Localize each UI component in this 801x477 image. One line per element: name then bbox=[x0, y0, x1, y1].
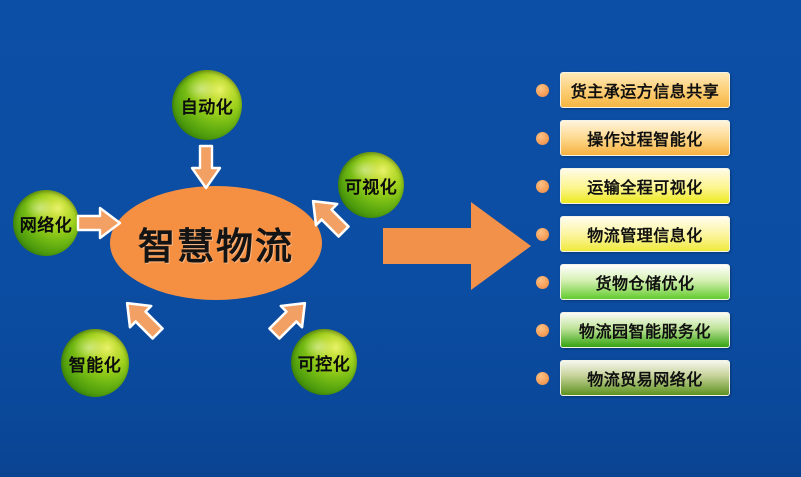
driver-sphere-networking[interactable]: 网络化 bbox=[13, 190, 79, 256]
slide-canvas: 智慧物流 自动化 可视化 网络化 智能化 可控化 bbox=[0, 0, 801, 477]
arrow-down-icon bbox=[186, 144, 226, 192]
list-item[interactable]: 货主承运方信息共享 bbox=[536, 66, 786, 114]
outcome-label: 物流贸易网络化 bbox=[587, 366, 703, 390]
list-item[interactable]: 物流贸易网络化 bbox=[536, 354, 786, 402]
bullet-icon bbox=[536, 324, 549, 337]
driver-label-automation: 自动化 bbox=[181, 93, 234, 118]
bullet-icon bbox=[536, 276, 549, 289]
driver-sphere-automation[interactable]: 自动化 bbox=[172, 70, 242, 140]
bullet-icon bbox=[536, 228, 549, 241]
list-item[interactable]: 货物仓储优化 bbox=[536, 258, 786, 306]
background-bottom-band bbox=[0, 431, 801, 477]
outcome-label: 货物仓储优化 bbox=[595, 270, 694, 294]
driver-label-networking: 网络化 bbox=[20, 211, 73, 236]
bullet-icon bbox=[536, 84, 549, 97]
outcome-label: 运输全程可视化 bbox=[587, 174, 703, 198]
outcome-label: 物流园智能服务化 bbox=[579, 318, 711, 342]
core-concept-label: 智慧物流 bbox=[138, 216, 294, 270]
outcome-label: 货主承运方信息共享 bbox=[571, 78, 720, 102]
list-item[interactable]: 操作过程智能化 bbox=[536, 114, 786, 162]
outcome-box[interactable]: 运输全程可视化 bbox=[560, 168, 730, 204]
outcome-label: 操作过程智能化 bbox=[587, 126, 703, 150]
outcome-box[interactable]: 物流园智能服务化 bbox=[560, 312, 730, 348]
arrow-up-right-icon bbox=[118, 294, 166, 342]
list-item[interactable]: 物流园智能服务化 bbox=[536, 306, 786, 354]
outcome-list: 货主承运方信息共享 操作过程智能化 运输全程可视化 物流管理信息化 货物仓储优化 bbox=[536, 66, 786, 402]
outcome-box[interactable]: 操作过程智能化 bbox=[560, 120, 730, 156]
outcome-box[interactable]: 货物仓储优化 bbox=[560, 264, 730, 300]
bullet-icon bbox=[536, 132, 549, 145]
outcome-box[interactable]: 物流贸易网络化 bbox=[560, 360, 730, 396]
arrow-up-left-icon bbox=[266, 294, 314, 342]
outcome-box[interactable]: 物流管理信息化 bbox=[560, 216, 730, 252]
list-item[interactable]: 运输全程可视化 bbox=[536, 162, 786, 210]
list-item[interactable]: 物流管理信息化 bbox=[536, 210, 786, 258]
driver-label-visualization: 可视化 bbox=[345, 173, 398, 198]
driver-label-controllability: 可控化 bbox=[298, 350, 351, 375]
bullet-icon bbox=[536, 372, 549, 385]
driver-label-intelligence: 智能化 bbox=[69, 351, 122, 376]
outcome-box[interactable]: 货主承运方信息共享 bbox=[560, 72, 730, 108]
outcome-label: 物流管理信息化 bbox=[587, 222, 703, 246]
arrow-right-icon bbox=[76, 203, 124, 243]
arrow-down-left-icon bbox=[304, 192, 352, 240]
big-right-arrow-icon bbox=[383, 200, 533, 292]
bullet-icon bbox=[536, 180, 549, 193]
core-concept-ellipse[interactable]: 智慧物流 bbox=[110, 186, 322, 300]
